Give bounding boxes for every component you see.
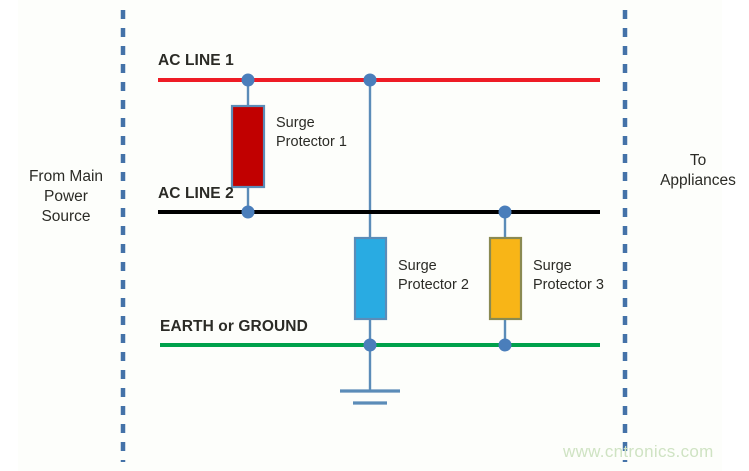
bus-label-ac-line-1: AC LINE 1 [158,51,234,71]
bus-label-ac-line-2: AC LINE 2 [158,184,234,204]
surge-protector-2-label: Surge Protector 2 [398,257,469,294]
node-l2-sp1 [242,206,255,219]
surge-protector-3-body [490,238,521,319]
from-main-power-source-label: From Main Power Source [16,167,116,226]
node-gnd-sp2 [364,339,377,352]
surge-protector-2-body [355,238,386,319]
surge-protection-schematic [0,0,749,471]
site-watermark: www.cntronics.com [563,442,714,462]
surge-protector-3-label: Surge Protector 3 [533,257,604,294]
surge-protector-1-body [232,106,264,187]
to-appliances-label: To Appliances [648,151,748,191]
node-l1-sp2 [364,74,377,87]
diagram-canvas: AC LINE 1 AC LINE 2 EARTH or GROUND Surg… [0,0,749,471]
bus-label-earth-or-ground: EARTH or GROUND [160,317,308,337]
surge-protector-1-label: Surge Protector 1 [276,114,347,151]
node-l2-sp3 [499,206,512,219]
node-l1-sp1 [242,74,255,87]
node-gnd-sp3 [499,339,512,352]
